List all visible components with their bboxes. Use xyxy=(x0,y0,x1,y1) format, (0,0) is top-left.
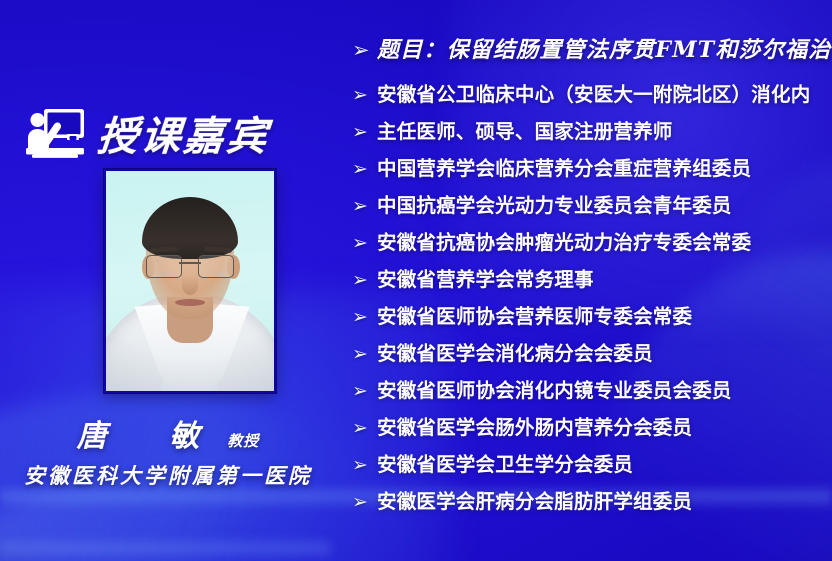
speaker-intro-slide: 授课嘉宾 xyxy=(0,0,832,561)
vignette-overlay xyxy=(0,0,832,561)
